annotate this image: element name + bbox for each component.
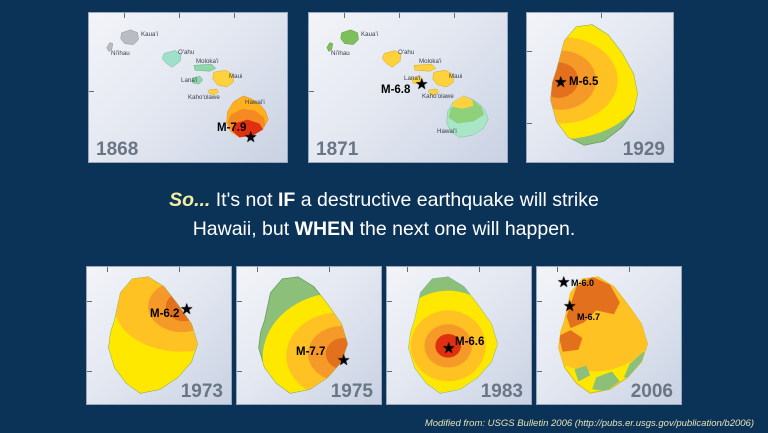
caption-line2-pre: Hawaii, but (193, 218, 295, 240)
panel-year-label: 1983 (481, 382, 523, 401)
map-panel-2006[interactable]: ★ M-6.0 ★ M-6.7 2006 (536, 266, 682, 405)
epicenter-star-icon: ★ (563, 299, 576, 314)
caption-line-1: So... It's not IF a destructive earthqua… (0, 186, 768, 215)
magnitude-label: M-6.8 (381, 85, 410, 97)
island-label-hawaii: Hawai'i (437, 128, 457, 135)
caption-line1-bold: IF (278, 189, 295, 211)
island-label-kauai: Kaua'i (141, 31, 158, 38)
island-label-kahoolawe: Kaho'olawe (188, 94, 220, 101)
epicenter-star-icon: ★ (557, 275, 570, 290)
panel-year-label: 1975 (331, 382, 373, 401)
magnitude-label: M-6.5 (569, 77, 598, 89)
map-panel-1975[interactable]: M-7.7 ★ 1975 (236, 266, 382, 405)
island-label-oahu: O'ahu (398, 49, 414, 56)
epicenter-star-icon: ★ (244, 130, 257, 145)
panel-year-label: 2006 (631, 382, 673, 401)
panel-year-label: 1973 (181, 382, 223, 401)
epicenter-star-icon: ★ (554, 75, 567, 90)
map-panel-1983[interactable]: M-6.6 ★ 1983 (386, 266, 532, 405)
magnitude-label: M-6.7 (577, 313, 600, 322)
magnitude-label: M-6.2 (150, 309, 179, 321)
epicenter-star-icon: ★ (442, 341, 455, 356)
island-label-kauai: Kaua'i (361, 31, 378, 38)
panel-year-label: 1871 (316, 140, 358, 159)
island-label-niihau: Ni'ihau (331, 50, 350, 57)
magnitude-label: M-6.6 (455, 337, 484, 349)
panel-year-label: 1868 (96, 140, 138, 159)
epicenter-star-icon: ★ (337, 353, 350, 368)
epicenter-star-icon: ★ (180, 302, 193, 317)
panel-year-label: 1929 (623, 140, 665, 159)
island-label-molokai: Moloka'i (196, 58, 219, 65)
caption-lead: So... (169, 189, 210, 211)
island-label-niihau: Ni'ihau (111, 50, 130, 57)
map-panel-1929[interactable]: ★ M-6.5 1929 (526, 12, 674, 163)
caption-line1-pre: It's not (210, 189, 278, 211)
island-label-maui: Maui (449, 73, 462, 80)
magnitude-label: M-6.0 (571, 279, 594, 288)
map-panel-1871[interactable]: Ni'ihau Kaua'i O'ahu Moloka'i Lana'i Kah… (308, 12, 508, 163)
map-panel-1973[interactable]: M-6.2 ★ 1973 (86, 266, 232, 405)
caption-line2-bold: WHEN (295, 218, 355, 240)
island-label-hawaii: Hawai'i (245, 99, 265, 106)
magnitude-label: M-7.7 (296, 347, 325, 359)
epicenter-star-icon: ★ (415, 77, 428, 92)
island-label-lanai: Lana'i (181, 77, 197, 84)
caption-text: So... It's not IF a destructive earthqua… (0, 186, 768, 244)
slide-root: Ni'ihau Kaua'i O'ahu Moloka'i Lana'i Kah… (0, 0, 768, 433)
map-panel-1868[interactable]: Ni'ihau Kaua'i O'ahu Moloka'i Lana'i Kah… (88, 12, 288, 163)
caption-line-2: Hawaii, but WHEN the next one will happe… (0, 215, 768, 244)
source-credit: Modified from: USGS Bulletin 2006 (http:… (425, 418, 754, 429)
island-label-kahoolawe: Kaho'olawe (422, 93, 454, 100)
island-label-oahu: O'ahu (178, 49, 194, 56)
caption-line2-post: the next one will happen. (354, 218, 575, 240)
island-label-maui: Maui (229, 73, 242, 80)
caption-line1-post: a destructive earthquake will strike (295, 189, 598, 211)
magnitude-label: M-7.9 (217, 123, 246, 135)
island-label-molokai: Moloka'i (419, 58, 442, 65)
